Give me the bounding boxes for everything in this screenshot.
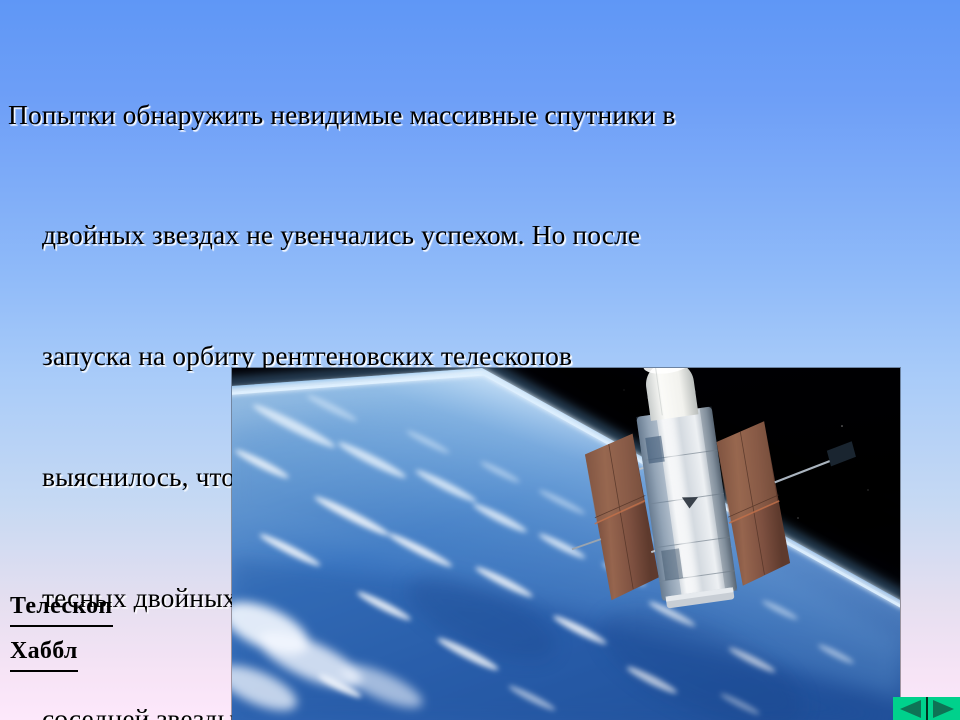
slide-navigation[interactable] [893, 697, 960, 720]
photo-caption: Телескоп Хаббл [10, 588, 113, 678]
caption-line: Хаббл [10, 633, 78, 672]
photo-artwork [232, 368, 900, 720]
body-text-line: двойных звездах не увенчались успехом. Н… [8, 215, 952, 255]
nav-divider [926, 697, 928, 720]
arrow-right-icon [933, 700, 954, 718]
presentation-slide: Попытки обнаружить невидимые массивные с… [0, 0, 960, 720]
arrow-left-icon [900, 700, 921, 718]
body-text-line: Попытки обнаружить невидимые массивные с… [8, 95, 952, 135]
caption-line: Телескоп [10, 588, 113, 627]
previous-slide-button[interactable] [894, 697, 927, 720]
hubble-telescope-photo [232, 368, 900, 720]
next-slide-button[interactable] [927, 697, 960, 720]
